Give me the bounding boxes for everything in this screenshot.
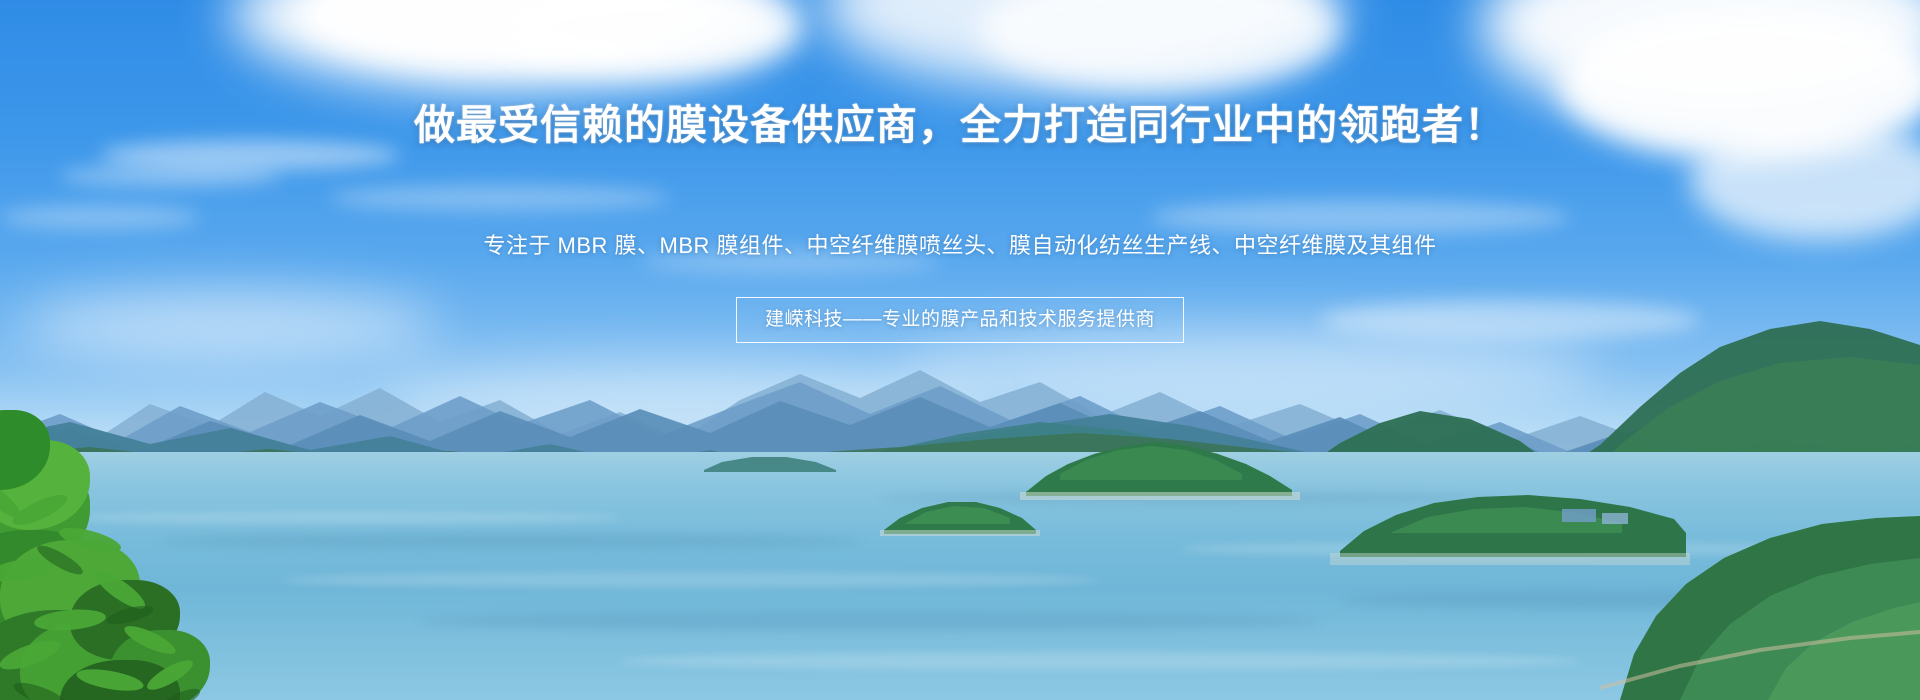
banner-headline: 做最受信赖的膜设备供应商，全力打造同行业中的领跑者！ [0,100,1920,150]
banner-copy: 做最受信赖的膜设备供应商，全力打造同行业中的领跑者！ 专注于 MBR 膜、MBR… [0,0,1920,700]
hero-banner: 做最受信赖的膜设备供应商，全力打造同行业中的领跑者！ 专注于 MBR 膜、MBR… [0,0,1920,700]
banner-tagline-container: 建嵘科技——专业的膜产品和技术服务提供商 [0,297,1920,343]
banner-tagline: 建嵘科技——专业的膜产品和技术服务提供商 [736,297,1184,343]
banner-subtitle: 专注于 MBR 膜、MBR 膜组件、中空纤维膜喷丝头、膜自动化纺丝生产线、中空纤… [0,230,1920,262]
